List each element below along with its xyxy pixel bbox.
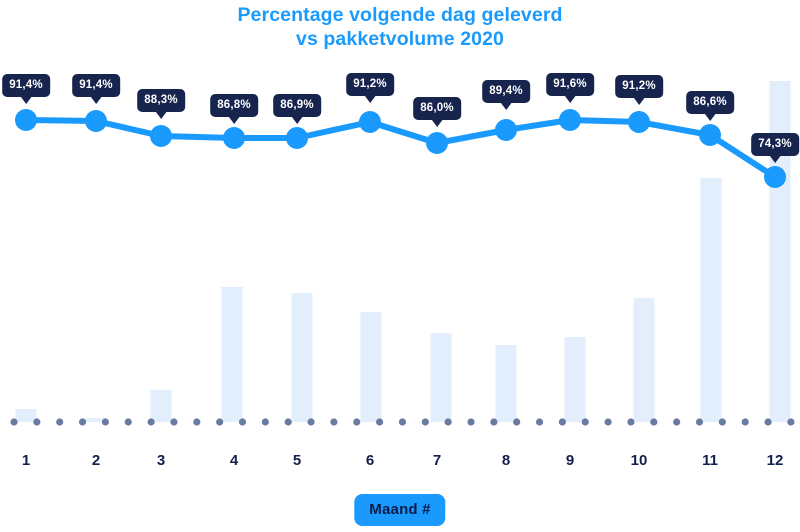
trend-line (26, 120, 775, 177)
baseline-dot (719, 418, 726, 425)
chart-container: Percentage volgende dag geleverd vs pakk… (0, 0, 800, 532)
baseline-dot (422, 418, 429, 425)
baseline-dot (513, 418, 520, 425)
volume-bar (496, 345, 517, 422)
line-markers (15, 109, 786, 188)
volume-bar (565, 337, 586, 422)
x-axis-tick-label: 11 (702, 452, 718, 469)
line-marker[interactable] (286, 127, 308, 149)
x-axis-tick-label: 2 (92, 452, 100, 469)
baseline-dot (193, 418, 200, 425)
data-label-tooltip: 91,4% (72, 74, 120, 97)
data-label-tooltip: 74,3% (751, 133, 799, 156)
x-axis-tick-label: 10 (631, 452, 648, 469)
data-label-tooltip: 91,4% (2, 74, 50, 97)
baseline-dot (627, 418, 634, 425)
baseline-dot (399, 418, 406, 425)
baseline-dot (467, 418, 474, 425)
volume-bar (431, 333, 452, 422)
line-marker[interactable] (223, 127, 245, 149)
baseline-dot (285, 418, 292, 425)
data-label-tooltip: 86,9% (273, 94, 321, 117)
baseline-dot (605, 418, 612, 425)
plot-area: 91,4%91,4%88,3%86,8%86,9%91,2%86,0%89,4%… (0, 0, 800, 440)
data-label-tooltip: 91,2% (615, 75, 663, 98)
data-label-tooltip: 88,3% (137, 89, 185, 112)
line-marker[interactable] (15, 109, 37, 131)
volume-bar (16, 409, 37, 422)
data-label-tooltip: 86,0% (413, 97, 461, 120)
volume-bar (361, 312, 382, 422)
baseline-dot (79, 418, 86, 425)
x-axis-tick-label: 4 (230, 452, 238, 469)
line-marker[interactable] (426, 132, 448, 154)
data-label-tooltip: 86,8% (210, 94, 258, 117)
baseline-dot (102, 418, 109, 425)
baseline-dot (239, 418, 246, 425)
baseline-dot (170, 418, 177, 425)
baseline-dot (696, 418, 703, 425)
baseline-dot-row (10, 418, 794, 425)
x-axis-tick-label: 7 (433, 452, 441, 469)
volume-bar (292, 293, 313, 422)
x-axis-tick-label: 8 (502, 452, 510, 469)
baseline-dot (582, 418, 589, 425)
baseline-dot (10, 418, 17, 425)
line-marker[interactable] (764, 166, 786, 188)
data-label-tooltip: 91,2% (346, 73, 394, 96)
chart-canvas (0, 0, 800, 440)
x-axis-tick-label: 3 (157, 452, 165, 469)
line-marker[interactable] (699, 124, 721, 146)
baseline-dot (216, 418, 223, 425)
baseline-dot (490, 418, 497, 425)
baseline-dot (353, 418, 360, 425)
x-axis-tick-label: 12 (767, 452, 784, 469)
x-axis-tick-label: 9 (566, 452, 574, 469)
baseline-dot (536, 418, 543, 425)
x-axis-tick-label: 5 (293, 452, 301, 469)
baseline-dot (125, 418, 132, 425)
volume-bar (151, 390, 172, 422)
data-label-tooltip: 91,6% (546, 73, 594, 96)
volume-bar (701, 178, 722, 422)
data-label-tooltip: 86,6% (686, 91, 734, 114)
baseline-dot (673, 418, 680, 425)
line-marker[interactable] (559, 109, 581, 131)
volume-bar (634, 298, 655, 422)
baseline-dot (445, 418, 452, 425)
volume-bar (222, 287, 243, 422)
baseline-dot (376, 418, 383, 425)
x-axis-tick-label: 1 (22, 452, 30, 469)
baseline-dot (307, 418, 314, 425)
x-axis-title-pill: Maand # (354, 494, 445, 526)
data-label-tooltip: 89,4% (482, 80, 530, 103)
x-axis: 123456789101112 (0, 452, 800, 478)
baseline-dot (742, 418, 749, 425)
baseline-dot (650, 418, 657, 425)
baseline-dot (56, 418, 63, 425)
baseline-dot (764, 418, 771, 425)
baseline-dot (330, 418, 337, 425)
line-marker[interactable] (359, 111, 381, 133)
baseline-dot (559, 418, 566, 425)
baseline-dot (787, 418, 794, 425)
baseline-dot (33, 418, 40, 425)
line-marker[interactable] (85, 110, 107, 132)
line-marker[interactable] (495, 119, 517, 141)
baseline-dot (148, 418, 155, 425)
x-axis-tick-label: 6 (366, 452, 374, 469)
baseline-dot (262, 418, 269, 425)
line-marker[interactable] (628, 111, 650, 133)
line-marker[interactable] (150, 125, 172, 147)
